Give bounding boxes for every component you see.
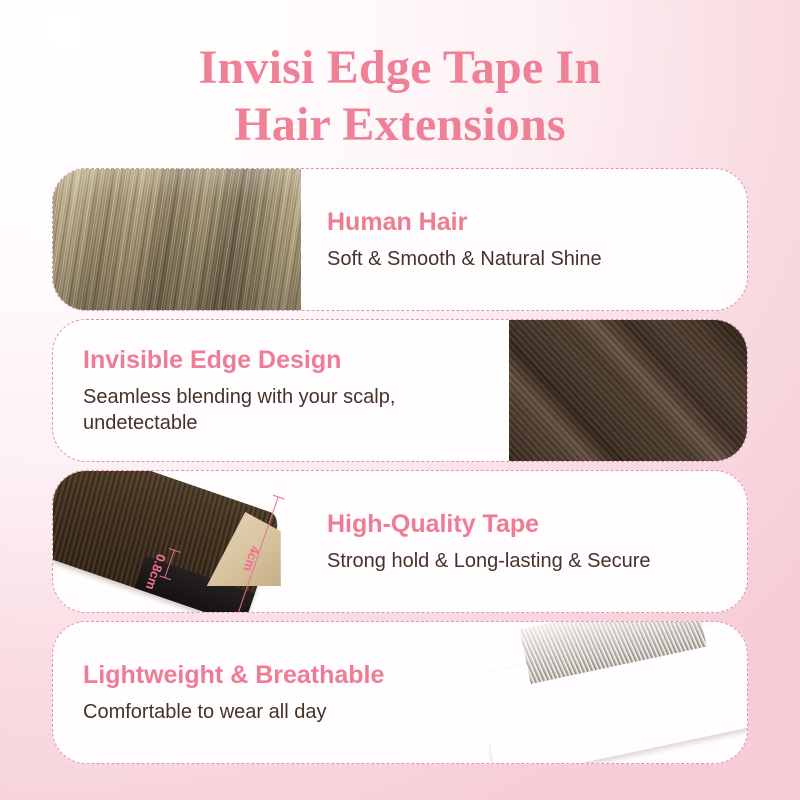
feature-card-list: Human Hair Soft & Smooth & Natural Shine… [52,168,748,764]
feature-subtitle: Soft & Smooth & Natural Shine [327,247,721,273]
feature-subtitle: Comfortable to wear all day [83,700,463,726]
blonde-hair-swatch-image [53,169,301,310]
feature-heading: High-Quality Tape [327,509,721,540]
feature-card-text: Human Hair Soft & Smooth & Natural Shine [301,169,747,310]
feature-card-lightweight-breathable: Lightweight & Breathable Comfortable to … [52,621,748,764]
tape-weft-diagram-image: 0.8cm 4cm [53,471,301,612]
feature-card-human-hair: Human Hair Soft & Smooth & Natural Shine [52,168,748,311]
feature-card-text: Lightweight & Breathable Comfortable to … [53,622,489,763]
dark-hair-weft-image [509,320,747,461]
feature-heading: Invisible Edge Design [83,345,483,376]
page-title: Invisi Edge Tape In Hair Extensions [0,0,800,153]
feature-subtitle: Seamless blending with your scalp, undet… [83,385,483,436]
brown-weft-angled-image [489,622,747,763]
feature-heading: Human Hair [327,207,721,238]
feature-card-text: High-Quality Tape Strong hold & Long-las… [301,471,747,612]
feature-subtitle: Strong hold & Long-lasting & Secure [327,549,721,575]
title-line-1: Invisi Edge Tape In [0,40,800,97]
title-line-2: Hair Extensions [0,97,800,154]
feature-card-high-quality-tape: 0.8cm 4cm High-Quality Tape Strong hold … [52,470,748,613]
feature-card-text: Invisible Edge Design Seamless blending … [53,320,509,461]
feature-card-invisible-edge: Invisible Edge Design Seamless blending … [52,319,748,462]
feature-heading: Lightweight & Breathable [83,660,463,691]
